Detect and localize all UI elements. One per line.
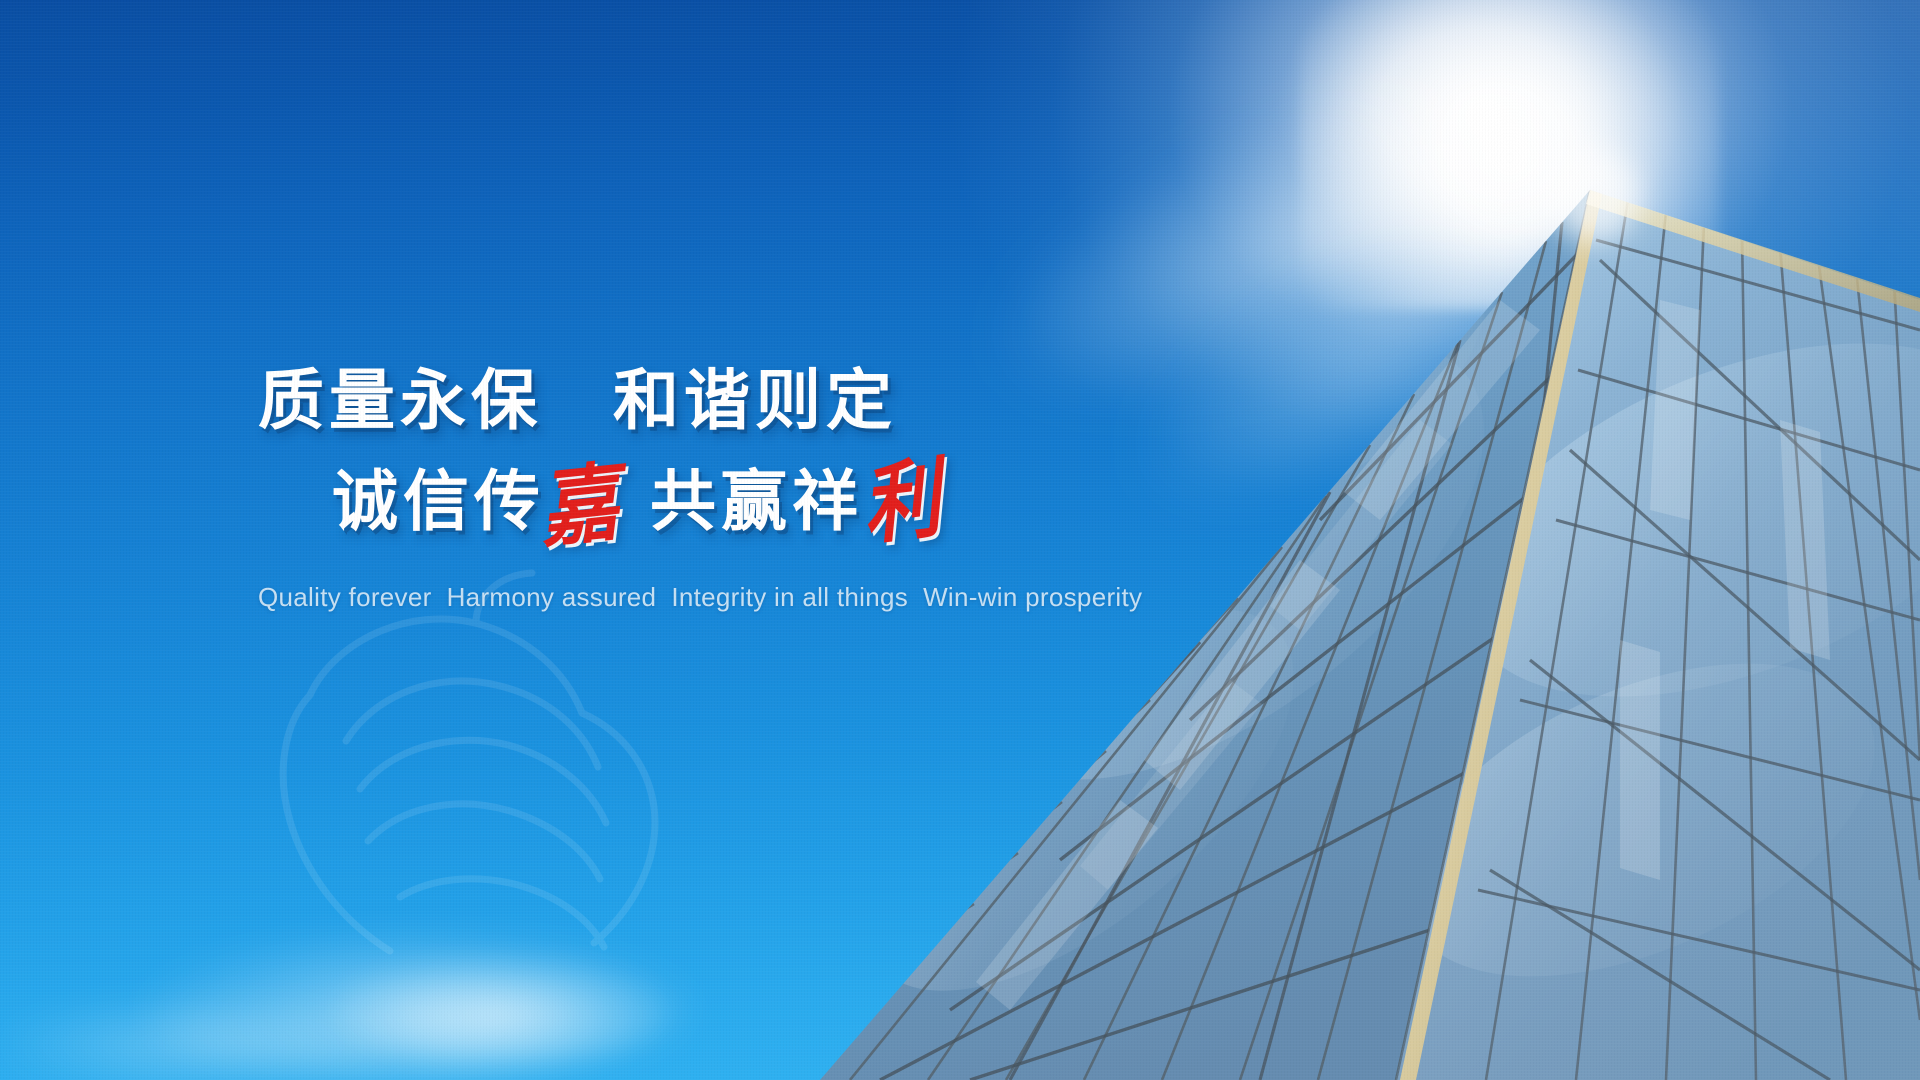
headline-line-1: 质量永保 和谐则定: [0, 368, 1100, 434]
headline-line-2-part-1: 诚信传: [332, 469, 545, 535]
hero-banner: 质量永保 和谐则定 诚信传 嘉 共赢祥 利 Quality forever Ha…: [0, 0, 1920, 1080]
seal-character-jia: 嘉: [535, 459, 628, 552]
headline-line-2: 诚信传 嘉 共赢祥 利: [0, 460, 1100, 536]
banner-copy: 质量永保 和谐则定 诚信传 嘉 共赢祥 利 Quality forever Ha…: [0, 368, 1100, 613]
headline-line-2-part-2: 共赢祥: [650, 469, 863, 535]
seal-character-li: 利: [857, 454, 950, 550]
